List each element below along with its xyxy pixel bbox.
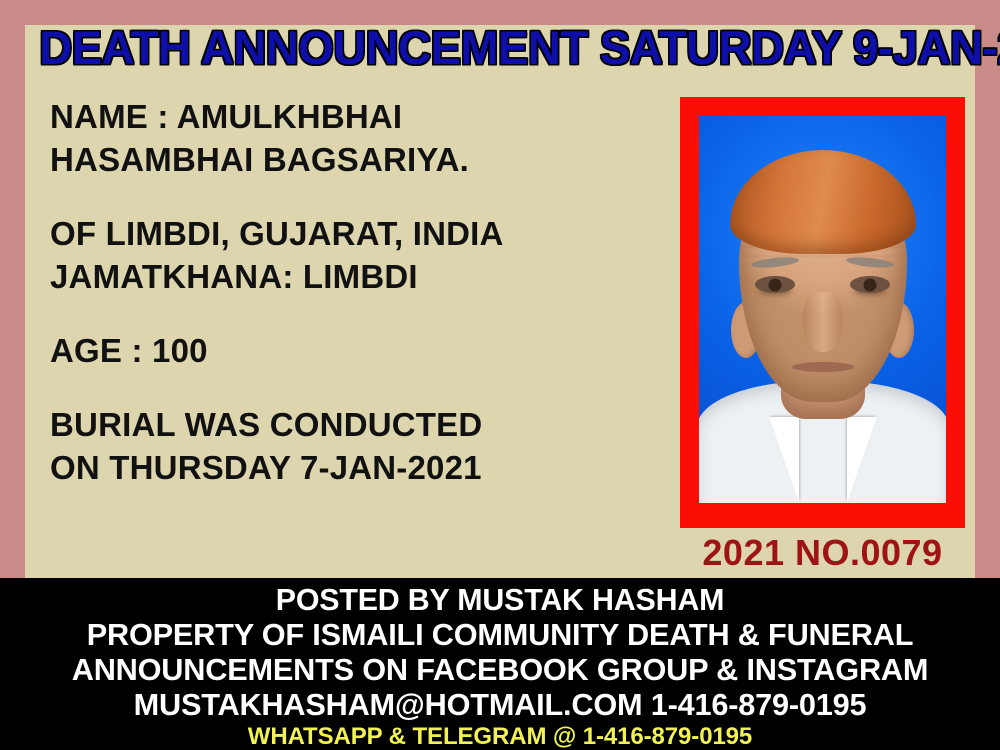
footer-whatsapp-line: WHATSAPP & TELEGRAM @ 1-416-879-0195 xyxy=(0,722,1000,750)
burial-line-1: BURIAL WAS CONDUCTED xyxy=(50,403,650,446)
eye-left-shape xyxy=(755,276,795,293)
place-block: OF LIMBDI, GUJARAT, INDIA JAMATKHANA: LI… xyxy=(50,212,650,298)
poster-footer: POSTED BY MUSTAK HASHAM PROPERTY OF ISMA… xyxy=(0,578,1000,750)
footer-contact-line: MUSTAKHASHAM@HOTMAIL.COM 1-416-879-0195 xyxy=(5,687,995,722)
age-line: AGE : 100 xyxy=(50,329,650,372)
burial-line-2: ON THURSDAY 7-JAN-2021 xyxy=(50,446,650,489)
mouth-shape xyxy=(792,362,854,372)
eye-right-shape xyxy=(850,276,890,293)
name-line-2: HASAMBHAI BAGSARIYA. xyxy=(50,138,650,181)
age-block: AGE : 100 xyxy=(50,329,650,372)
nose-shape xyxy=(803,292,843,352)
burial-block: BURIAL WAS CONDUCTED ON THURSDAY 7-JAN-2… xyxy=(50,403,650,489)
page-title: DEATH ANNOUNCEMENT SATURDAY 9-JAN-2021 xyxy=(39,22,961,74)
jamatkhana-line: JAMATKHANA: LIMBDI xyxy=(50,255,650,298)
name-line-1: NAME : AMULKHBHAI xyxy=(50,95,650,138)
footer-posted-by: POSTED BY MUSTAK HASHAM xyxy=(10,583,990,617)
hair-shape xyxy=(730,150,916,254)
name-block: NAME : AMULKHBHAI HASAMBHAI BAGSARIYA. xyxy=(50,95,650,181)
collar-right-shape xyxy=(847,417,877,503)
death-announcement-poster: DEATH ANNOUNCEMENT SATURDAY 9-JAN-2021 N… xyxy=(0,0,1000,750)
place-line-1: OF LIMBDI, GUJARAT, INDIA xyxy=(50,212,650,255)
footer-channels-line: ANNOUNCEMENTS ON FACEBOOK GROUP & INSTAG… xyxy=(5,652,995,687)
portrait-photo xyxy=(699,116,946,503)
collar-left-shape xyxy=(769,417,799,503)
footer-property-line: PROPERTY OF ISMAILI COMMUNITY DEATH & FU… xyxy=(5,617,995,652)
deceased-details: NAME : AMULKHBHAI HASAMBHAI BAGSARIYA. O… xyxy=(50,95,650,489)
reference-number: 2021 NO.0079 xyxy=(680,532,965,574)
portrait-frame xyxy=(680,97,965,528)
